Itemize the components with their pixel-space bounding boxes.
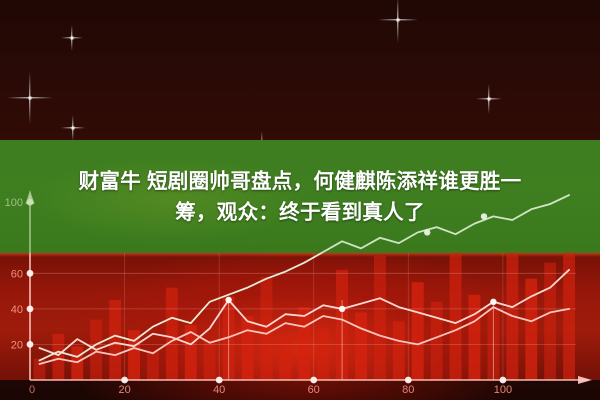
y-tick-label: 60 — [11, 268, 23, 280]
screenshot-canvas: 20406080100020406080 100 财富牛 短剧圈帅哥盘点，何健麒… — [0, 0, 600, 400]
banner-title-line-2: 筹，观众：终于看到真人了 — [0, 197, 600, 228]
banner-title-line-1: 财富牛 短剧圈帅哥盘点，何健麒陈添祥谁更胜一 — [0, 166, 600, 197]
bar — [317, 328, 329, 380]
y-tick-label: 40 — [11, 304, 23, 316]
x-tick-label: 20 — [118, 384, 130, 396]
y-tick-marker — [27, 341, 34, 348]
bar — [242, 316, 254, 380]
x-tick-marker — [500, 377, 507, 384]
data-point — [490, 299, 496, 305]
x-axis-arrow — [578, 376, 592, 384]
x-tick-marker — [310, 377, 317, 384]
y-tick-label: 20 — [11, 339, 23, 351]
banner-title: 财富牛 短剧圈帅哥盘点，何健麒陈添祥谁更胜一 筹，观众：终于看到真人了 — [0, 166, 600, 228]
bar — [450, 245, 462, 380]
bar — [261, 277, 273, 380]
y-tick-marker — [27, 306, 34, 313]
y-tick-marker — [27, 270, 34, 277]
bar — [204, 341, 216, 380]
bar — [52, 334, 64, 380]
bar — [431, 302, 443, 380]
bar — [469, 295, 481, 380]
bar — [298, 307, 310, 380]
bar — [412, 282, 424, 380]
bar — [374, 256, 386, 380]
bar — [109, 300, 121, 380]
bar — [166, 288, 178, 380]
bar — [279, 337, 291, 380]
bar — [71, 346, 83, 380]
bar — [544, 263, 556, 380]
x-tick-label-zero: 0 — [29, 384, 35, 396]
x-tick-label: 60 — [308, 384, 320, 396]
data-point — [225, 297, 231, 303]
bar — [355, 312, 367, 380]
x-tick-label: 100 — [494, 384, 512, 396]
data-point — [339, 306, 345, 312]
x-tick-marker — [216, 377, 223, 384]
x-tick-marker — [405, 377, 412, 384]
x-tick-marker — [121, 377, 128, 384]
x-tick-label: 40 — [213, 384, 225, 396]
x-tick-label: 80 — [402, 384, 414, 396]
bar — [393, 321, 405, 380]
data-point — [424, 229, 430, 235]
bar — [34, 359, 46, 380]
bar — [147, 352, 159, 380]
